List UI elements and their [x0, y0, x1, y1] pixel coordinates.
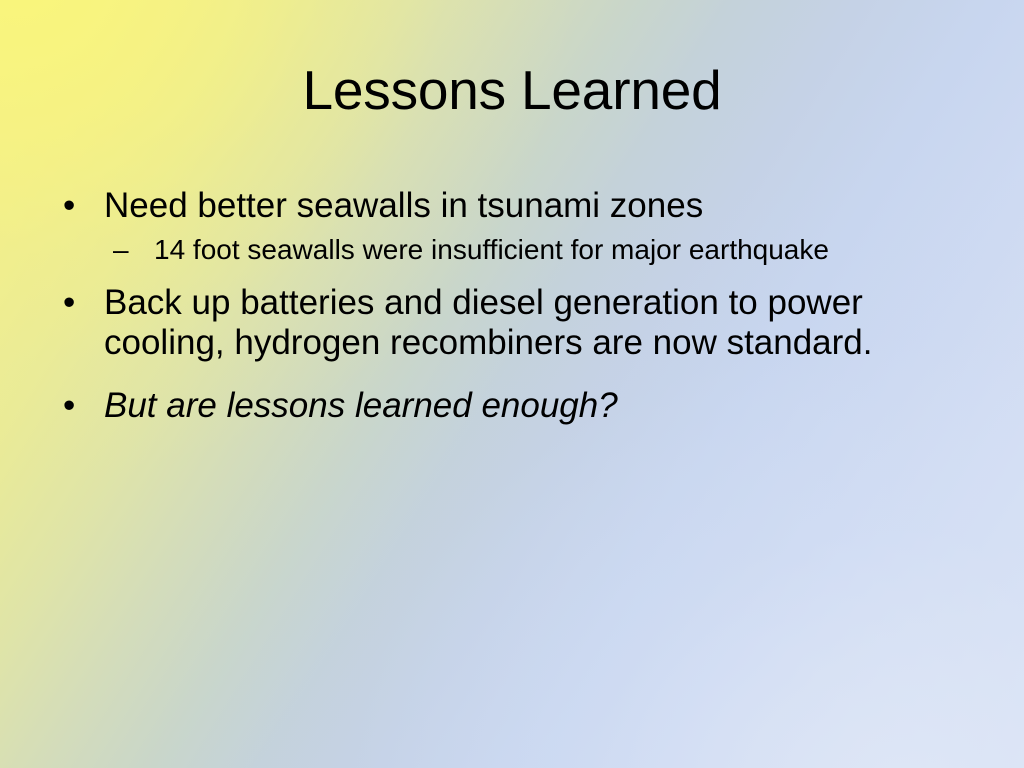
slide-bullet-list: • Need better seawalls in tsunami zones … — [58, 186, 984, 429]
bullet-text-emphasis: But are lessons learned enough? — [104, 386, 984, 427]
bullet-dot-icon: • — [63, 283, 75, 324]
sub-bullet-item: – 14 foot seawalls were insufficient for… — [58, 233, 984, 267]
bullet-text: Back up batteries and diesel generation … — [104, 283, 984, 365]
bullet-dash-icon: – — [113, 233, 129, 267]
bullet-dot-icon: • — [63, 386, 75, 427]
presentation-slide: Lessons Learned • Need better seawalls i… — [0, 0, 1024, 768]
bullet-item: • Back up batteries and diesel generatio… — [58, 283, 984, 365]
bullet-dot-icon: • — [63, 186, 75, 227]
sub-bullet-text: 14 foot seawalls were insufficient for m… — [154, 233, 984, 267]
slide-content: Lessons Learned • Need better seawalls i… — [0, 0, 1024, 768]
bullet-item: • But are lessons learned enough? — [58, 386, 984, 427]
bullet-text: Need better seawalls in tsunami zones — [104, 186, 984, 227]
bullet-item: • Need better seawalls in tsunami zones — [58, 186, 984, 227]
slide-title: Lessons Learned — [0, 60, 1024, 122]
